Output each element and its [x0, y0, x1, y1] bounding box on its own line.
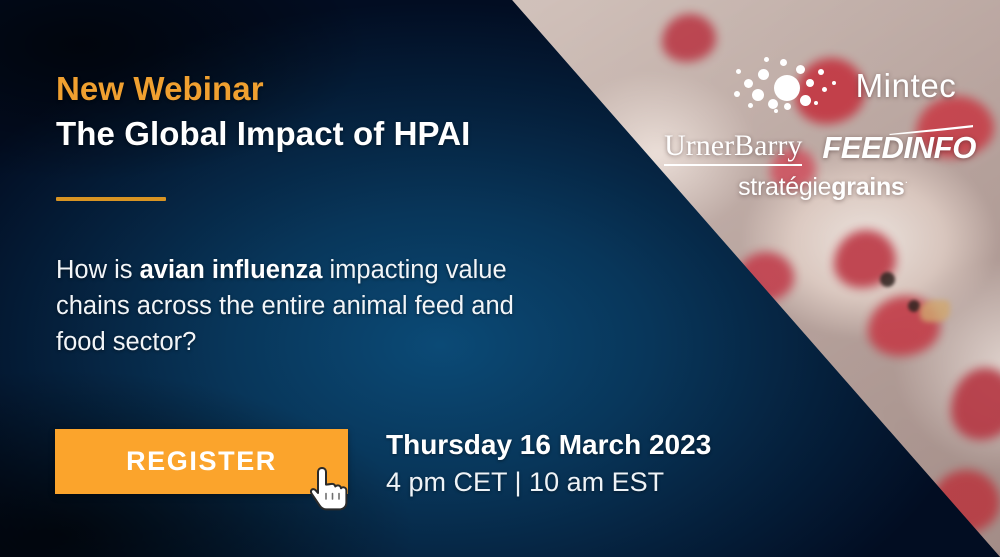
webinar-time: 4 pm CET | 10 am EST — [386, 467, 664, 498]
webinar-date: Thursday 16 March 2023 — [386, 429, 711, 461]
feedinfo-wordmark: FEEDINFO — [822, 130, 976, 165]
feedinfo-logo: FEEDINFO — [822, 121, 976, 166]
subcopy-bold: avian influenza — [140, 256, 323, 284]
subcopy-text: How is avian influenza impacting value c… — [56, 252, 536, 360]
subcopy-before: How is — [56, 256, 140, 284]
register-button[interactable]: REGISTER — [55, 429, 348, 494]
dot-cluster-icon — [730, 55, 848, 117]
swoosh-icon — [888, 125, 974, 135]
kicker-text: New Webinar — [56, 70, 264, 108]
page-title: The Global Impact of HPAI — [56, 115, 470, 153]
webinar-promo-banner: New Webinar The Global Impact of HPAI Ho… — [0, 0, 1000, 557]
strategie-bold: grains — [831, 173, 904, 201]
strategie-mid: gie — [799, 173, 831, 201]
strategie-light: straté — [738, 173, 799, 201]
strategiegrains-logo: stratégiegrains· — [656, 173, 990, 202]
register-button-label: REGISTER — [126, 446, 277, 477]
accent-divider — [56, 197, 166, 201]
partner-logo-cluster: Mintec UrnerBarry FEEDINFO stratégiegrai… — [650, 55, 990, 202]
mintec-logo: Mintec — [696, 55, 990, 117]
trademark-mark: · — [905, 177, 908, 189]
mintec-wordmark: Mintec — [856, 67, 957, 105]
urnerbarry-logo: UrnerBarry — [664, 130, 802, 167]
